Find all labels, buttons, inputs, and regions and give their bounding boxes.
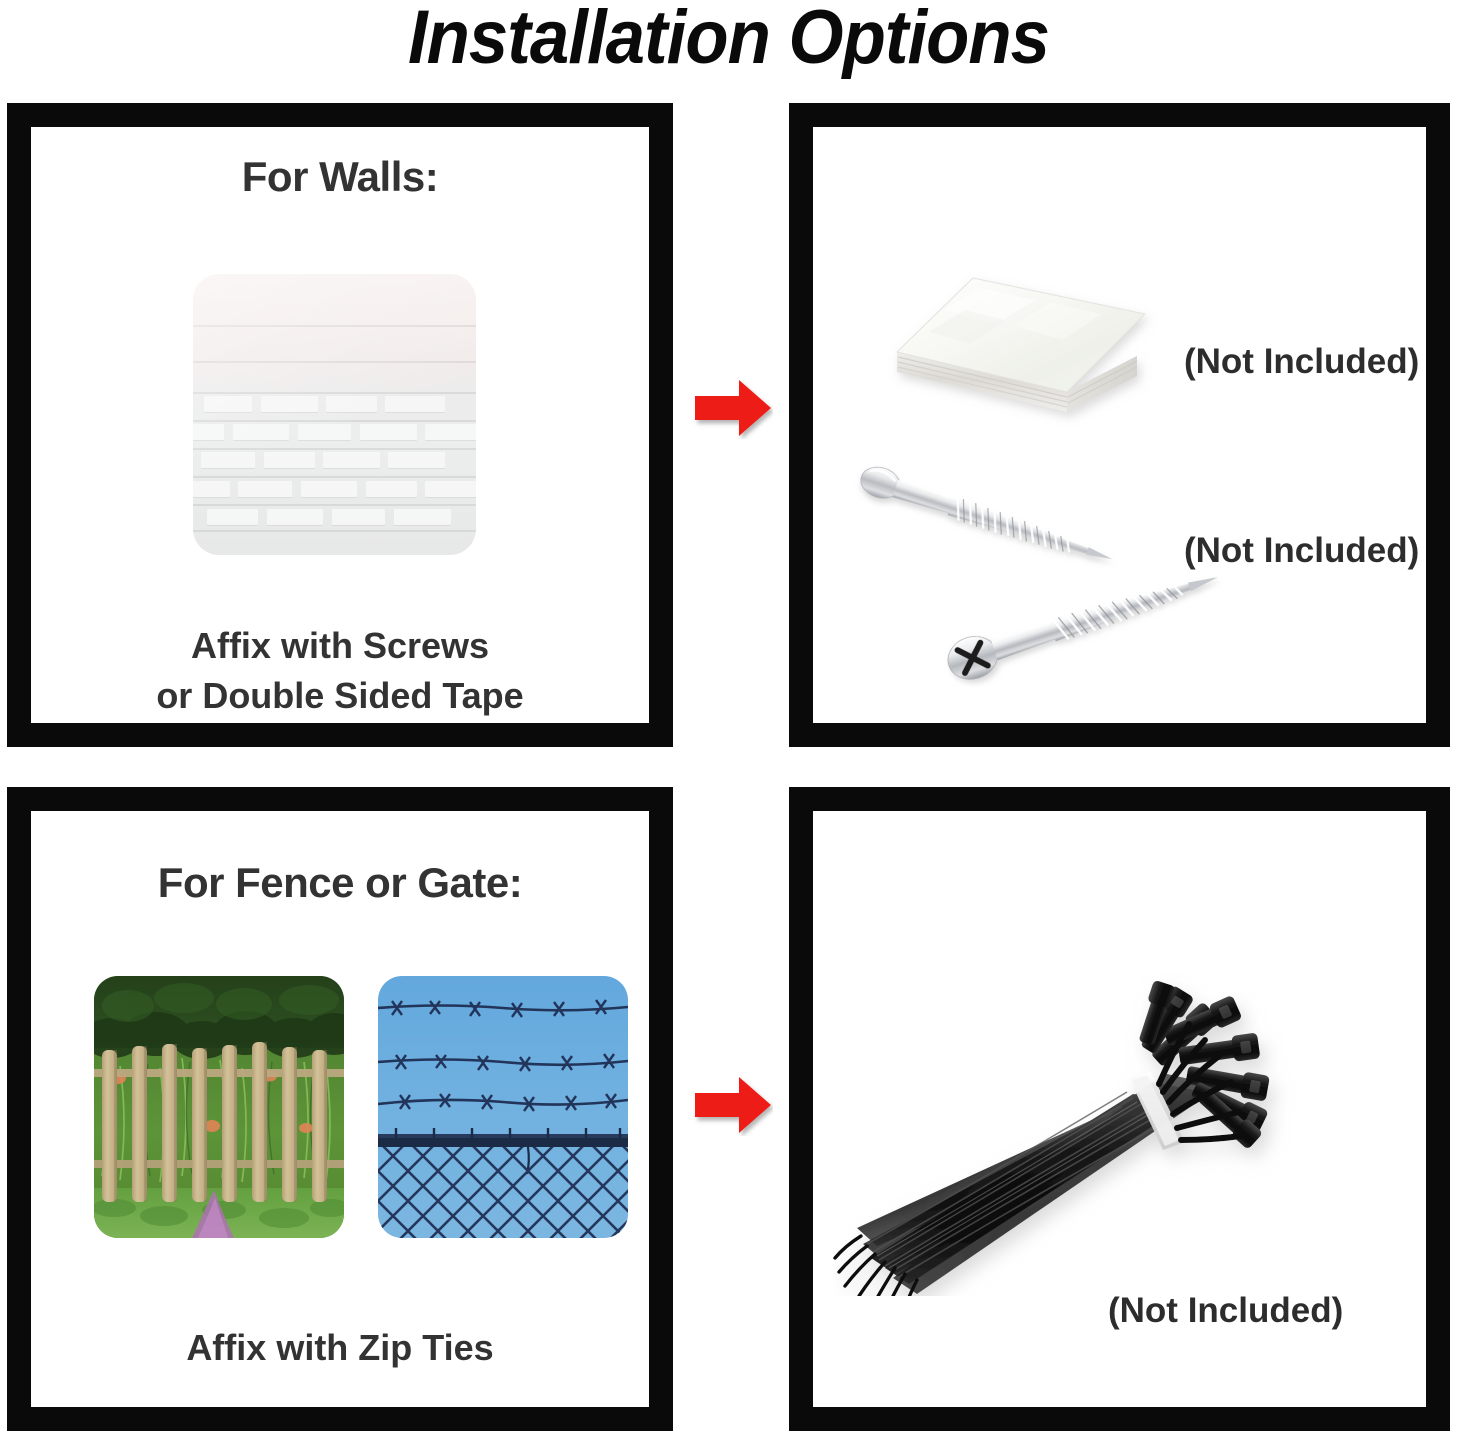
for-fence-heading: For Fence or Gate: bbox=[31, 859, 649, 907]
red-right-arrow-icon bbox=[693, 1074, 773, 1136]
panel-wall-hardware-inner: (Not Included) bbox=[813, 127, 1426, 723]
installation-options-infographic: Installation Options For Walls: bbox=[0, 0, 1457, 1434]
for-walls-caption-line2: or Double Sided Tape bbox=[31, 671, 649, 721]
wooden-picket-fence-photo bbox=[94, 976, 344, 1238]
for-fence-caption: Affix with Zip Ties bbox=[31, 1323, 649, 1373]
for-walls-heading: For Walls: bbox=[31, 153, 649, 201]
zip-ties-not-included-label: (Not Included) bbox=[1108, 1291, 1343, 1331]
panel-for-fence-or-gate: For Fence or Gate: bbox=[7, 787, 673, 1431]
for-walls-caption: Affix with Screws or Double Sided Tape bbox=[31, 621, 649, 720]
red-right-arrow-icon bbox=[693, 377, 773, 439]
panel-wall-hardware: (Not Included) bbox=[789, 103, 1450, 747]
double-sided-tape-stack-photo bbox=[885, 260, 1175, 440]
wood-screw-lower-photo bbox=[933, 557, 1233, 687]
screws-not-included-label: (Not Included) bbox=[1184, 531, 1419, 571]
panel-zip-ties-inner: (Not Included) bbox=[813, 811, 1426, 1407]
panel-for-walls-inner: For Walls: bbox=[31, 127, 649, 723]
panel-for-fence-or-gate-inner: For Fence or Gate: bbox=[31, 811, 649, 1407]
for-walls-caption-line1: Affix with Screws bbox=[31, 621, 649, 671]
panel-for-walls: For Walls: bbox=[7, 103, 673, 747]
panel-zip-ties: (Not Included) bbox=[789, 787, 1450, 1431]
page-title: Installation Options bbox=[51, 0, 1406, 81]
chain-link-barbed-wire-fence-photo bbox=[378, 976, 628, 1238]
black-zip-ties-bundle-photo bbox=[833, 906, 1413, 1296]
tape-not-included-label: (Not Included) bbox=[1184, 342, 1419, 382]
white-brick-wall-photo bbox=[193, 274, 476, 555]
